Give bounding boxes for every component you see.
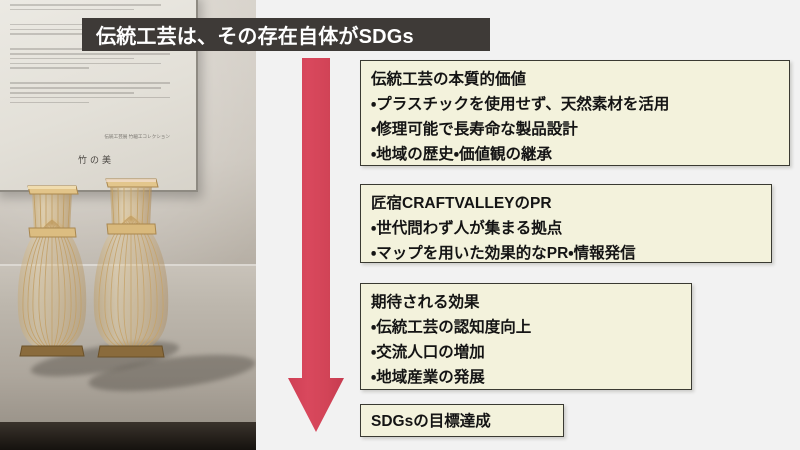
box-list-item: ・修理可能で長寿命な製品設計 [371,117,779,142]
box-list-item: ・交流人口の増加 [371,340,681,365]
bamboo-vase-right [86,172,176,368]
slide-canvas: 伝統工芸展 竹細工コレクション 竹の美 [0,0,800,450]
down-arrow-icon [288,58,344,432]
box-list-item: ・プラスチックを使用せず、天然素材を活用 [371,92,779,117]
photo-floor-strip [0,422,256,450]
box-list-item: ・マップを用いた効果的なPR・情報発信 [371,241,761,266]
box-heading: 期待される効果 [371,290,681,315]
box-heading: 匠宿CRAFTVALLEYのPR [371,191,761,216]
box-heading: 伝統工芸の本質的価値 [371,67,779,92]
box-list-item: ・地域産業の発展 [371,365,681,390]
content-box-sdgs-goal: SDGsの目標達成 [360,404,564,437]
panel-caption: 伝統工芸展 竹細工コレクション [104,133,170,140]
bamboo-vase-left [10,178,94,368]
box-list-item: ・伝統工芸の認知度向上 [371,315,681,340]
box-list-item: ・地域の歴史・価値観の継承 [371,142,779,167]
content-box-expected-effects: 期待される効果 ・伝統工芸の認知度向上 ・交流人口の増加 ・地域産業の発展 [360,283,692,390]
page-title: 伝統工芸は、その存在自体がSDGs [82,20,414,49]
slide-title-bar: 伝統工芸は、その存在自体がSDGs [82,18,490,51]
panel-title: 竹の美 [0,153,196,166]
box-list-item: ・世代問わず人が集まる拠点 [371,216,761,241]
content-box-essential-value: 伝統工芸の本質的価値 ・プラスチックを使用せず、天然素材を活用 ・修理可能で長寿… [360,60,790,166]
content-box-craftvalley-pr: 匠宿CRAFTVALLEYのPR ・世代問わず人が集まる拠点 ・マップを用いた効… [360,184,772,263]
bamboo-craft-vases-photo: 伝統工芸展 竹細工コレクション 竹の美 [0,0,256,450]
box-heading: SDGsの目標達成 [371,408,553,435]
